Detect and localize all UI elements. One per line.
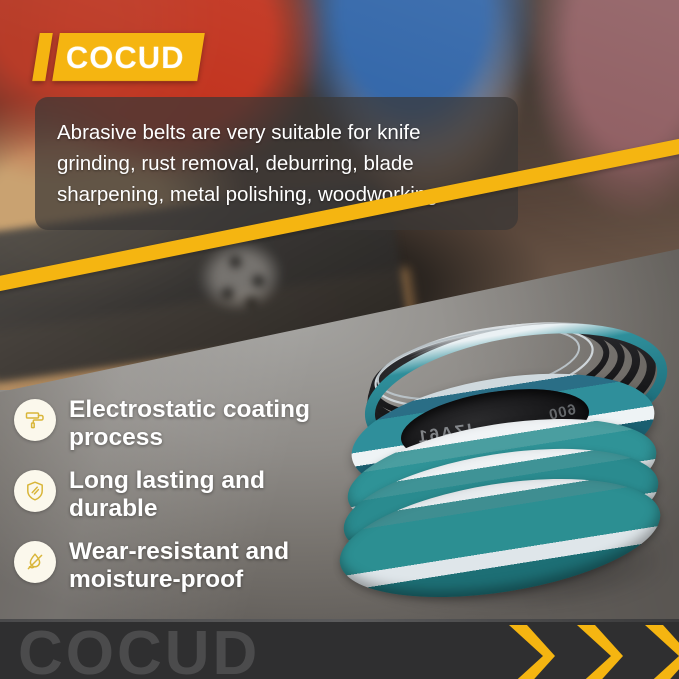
chevron-right-icon [639,625,679,679]
shield-icon [14,470,56,512]
chevron-right-icon [571,625,623,679]
chevron-right-icon [503,625,555,679]
feature-list: Electrostatic coating process Long lasti… [14,396,344,608]
feature-item: Electrostatic coating process [14,396,344,453]
feature-item: Long lasting and durable [14,467,344,524]
description-panel: Abrasive belts are very suitable for kni… [35,97,518,230]
feature-label: Wear-resistant and moisture-proof [69,538,337,595]
product-marketing-image: COCUD Abrasive belts are very suitable f… [0,0,679,679]
footer-bar: COCUD [0,619,679,679]
product-image: IZA61 600 [316,316,679,628]
brand-logo: COCUD [32,33,204,81]
paint-roller-icon [14,399,56,441]
chevron-group [503,625,679,679]
feature-label: Long lasting and durable [69,467,337,524]
feature-label: Electrostatic coating process [69,396,337,453]
footer-watermark: COCUD [18,623,260,679]
no-moisture-drop-icon [14,541,56,583]
feature-item: Wear-resistant and moisture-proof [14,538,344,595]
brand-name: COCUD [66,42,185,73]
logo-plate: COCUD [52,33,204,81]
